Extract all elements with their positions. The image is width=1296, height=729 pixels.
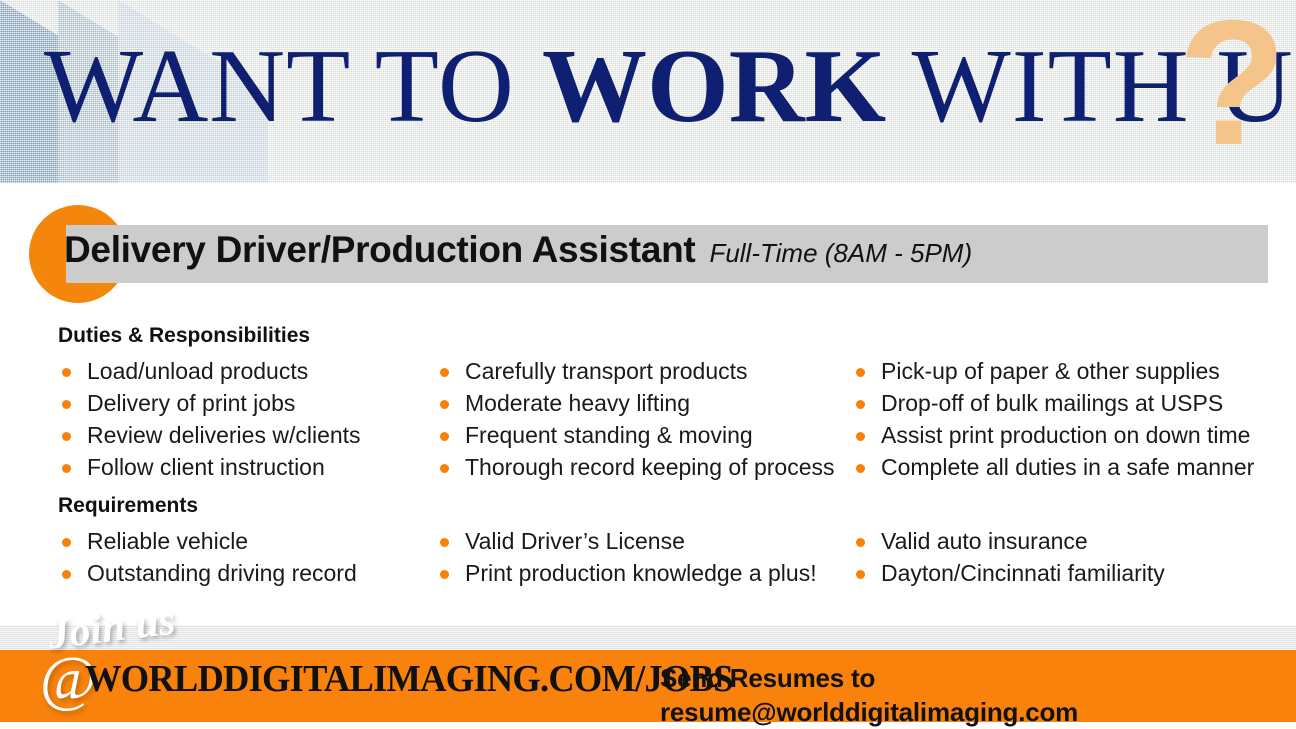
- list-item-label: Review deliveries w/clients: [87, 422, 361, 448]
- list-item-label: Valid auto insurance: [881, 528, 1088, 554]
- bullet-dot-icon: [856, 464, 865, 473]
- bullet-dot-icon: [856, 400, 865, 409]
- duties-list-1: Load/unload products Delivery of print j…: [58, 355, 361, 483]
- list-item-label: Thorough record keeping of process: [465, 454, 835, 480]
- job-title-label: Delivery Driver/Production Assistant: [64, 229, 695, 271]
- bullet-dot-icon: [856, 570, 865, 579]
- job-title-group: Delivery Driver/Production Assistant Ful…: [64, 229, 972, 279]
- list-item-label: Reliable vehicle: [87, 528, 248, 554]
- bullet-dot-icon: [440, 432, 449, 441]
- list-item-label: Follow client instruction: [87, 454, 325, 480]
- requirements-heading: Requirements: [58, 494, 198, 518]
- list-item: Reliable vehicle: [58, 525, 357, 557]
- bullet-dot-icon: [856, 538, 865, 547]
- list-item: Valid Driver’s License: [436, 525, 817, 557]
- bullet-dot-icon: [440, 368, 449, 377]
- list-item: Drop-off of bulk mailings at USPS: [852, 387, 1254, 419]
- list-item: Carefully transport products: [436, 355, 835, 387]
- duties-column-3: Pick-up of paper & other supplies Drop-o…: [852, 355, 1254, 483]
- duties-column-2: Carefully transport products Moderate he…: [436, 355, 835, 483]
- question-mark-icon: ?: [1178, 0, 1287, 172]
- duties-column-1: Load/unload products Delivery of print j…: [58, 355, 361, 483]
- list-item: Thorough record keeping of process: [436, 451, 835, 483]
- duties-heading: Duties & Responsibilities: [58, 324, 310, 348]
- list-item-label: Delivery of print jobs: [87, 390, 295, 416]
- list-item-label: Outstanding driving record: [87, 560, 357, 586]
- bullet-dot-icon: [62, 570, 71, 579]
- requirements-column-3: Valid auto insurance Dayton/Cincinnati f…: [852, 525, 1165, 589]
- list-item: Print production knowledge a plus!: [436, 557, 817, 589]
- bullet-dot-icon: [62, 400, 71, 409]
- list-item: Outstanding driving record: [58, 557, 357, 589]
- list-item: Complete all duties in a safe manner: [852, 451, 1254, 483]
- list-item-label: Pick-up of paper & other supplies: [881, 358, 1220, 384]
- list-item: Review deliveries w/clients: [58, 419, 361, 451]
- list-item: Pick-up of paper & other supplies: [852, 355, 1254, 387]
- bullet-dot-icon: [856, 432, 865, 441]
- list-item-label: Load/unload products: [87, 358, 308, 384]
- list-item: Valid auto insurance: [852, 525, 1165, 557]
- bullet-dot-icon: [440, 464, 449, 473]
- requirements-column-1: Reliable vehicle Outstanding driving rec…: [58, 525, 357, 589]
- list-item-label: Moderate heavy lifting: [465, 390, 690, 416]
- bullet-dot-icon: [62, 368, 71, 377]
- jobs-site-url[interactable]: WORLDDIGITALIMAGING.COM/JOBS: [85, 657, 733, 701]
- list-item: Moderate heavy lifting: [436, 387, 835, 419]
- headline-part-1: WANT TO: [44, 27, 542, 144]
- page-title: WANT TO WORK WITH US: [44, 26, 1296, 146]
- bullet-dot-icon: [62, 538, 71, 547]
- bullet-dot-icon: [440, 400, 449, 409]
- list-item-label: Print production knowledge a plus!: [465, 560, 817, 586]
- headline-emphasis-work: WORK: [542, 27, 886, 144]
- header-banner: WANT TO WORK WITH US ?: [0, 0, 1296, 183]
- list-item: Delivery of print jobs: [58, 387, 361, 419]
- list-item-label: Complete all duties in a safe manner: [881, 454, 1254, 480]
- footer-texture-band: [0, 625, 1296, 650]
- list-item: Frequent standing & moving: [436, 419, 835, 451]
- bullet-dot-icon: [62, 464, 71, 473]
- requirements-list-1: Reliable vehicle Outstanding driving rec…: [58, 525, 357, 589]
- bullet-dot-icon: [440, 538, 449, 547]
- requirements-list-2: Valid Driver’s License Print production …: [436, 525, 817, 589]
- bullet-dot-icon: [62, 432, 71, 441]
- list-item-label: Frequent standing & moving: [465, 422, 753, 448]
- list-item-label: Assist print production on down time: [881, 422, 1250, 448]
- duties-list-2: Carefully transport products Moderate he…: [436, 355, 835, 483]
- send-resumes-label[interactable]: Send Resumes to resume@worlddigitalimagi…: [660, 661, 1296, 729]
- list-item-label: Valid Driver’s License: [465, 528, 685, 554]
- bullet-dot-icon: [856, 368, 865, 377]
- list-item-label: Dayton/Cincinnati familiarity: [881, 560, 1165, 586]
- list-item: Load/unload products: [58, 355, 361, 387]
- list-item-label: Carefully transport products: [465, 358, 748, 384]
- requirements-list-3: Valid auto insurance Dayton/Cincinnati f…: [852, 525, 1165, 589]
- list-item: Assist print production on down time: [852, 419, 1254, 451]
- job-schedule-label: Full-Time (8AM - 5PM): [709, 238, 972, 269]
- list-item: Dayton/Cincinnati familiarity: [852, 557, 1165, 589]
- list-item: Follow client instruction: [58, 451, 361, 483]
- requirements-column-2: Valid Driver’s License Print production …: [436, 525, 817, 589]
- bullet-dot-icon: [440, 570, 449, 579]
- list-item-label: Drop-off of bulk mailings at USPS: [881, 390, 1223, 416]
- duties-list-3: Pick-up of paper & other supplies Drop-o…: [852, 355, 1254, 483]
